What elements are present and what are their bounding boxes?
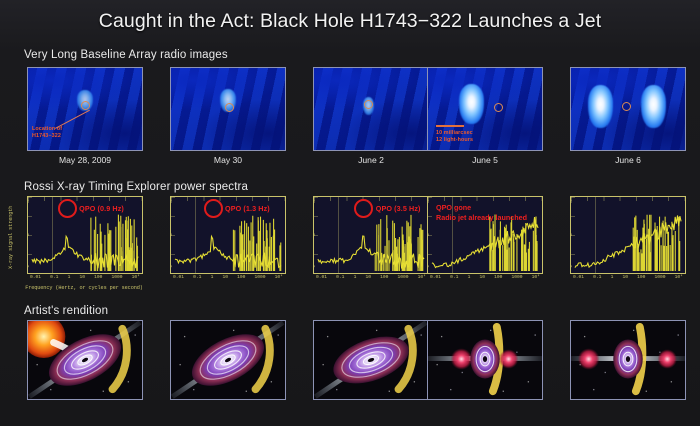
spectrum-x-tick: 0.1 bbox=[336, 275, 344, 280]
black-hole-illustration bbox=[428, 321, 542, 399]
spectrum-y-tick: 10⁻² bbox=[170, 201, 173, 206]
spectrum-y-tick: 10⁻⁴ bbox=[170, 266, 173, 271]
spectrum-trace bbox=[571, 197, 685, 273]
spectrum-y-ticks: 10⁻²10⁻³10⁻⁴ bbox=[427, 201, 430, 271]
spectrum-x-tick: 10 bbox=[479, 275, 485, 280]
qpo-annotation-line: QPO gone bbox=[436, 203, 527, 213]
artist-rendition-panel bbox=[427, 320, 543, 400]
radio-source-blob bbox=[588, 85, 613, 128]
qpo-annotation-line: QPO (1.3 Hz) bbox=[225, 204, 270, 213]
spectrum-x-tick: 1000 bbox=[655, 275, 666, 280]
black-hole-illustration bbox=[314, 321, 428, 399]
qpo-annotation-line: QPO (3.5 Hz) bbox=[376, 204, 421, 213]
spectrum-x-tick: 1 bbox=[611, 275, 614, 280]
spectrum-x-tick: 0.1 bbox=[50, 275, 58, 280]
spectrum-x-tick: 0.01 bbox=[173, 275, 184, 280]
spectrum-x-ticks: 0.010.1110100100010⁴ bbox=[313, 275, 429, 280]
spectrum-x-tick: 100 bbox=[637, 275, 645, 280]
spectrum-x-tick: 0.1 bbox=[193, 275, 201, 280]
qpo-annotation: QPO goneRadio jet already launched bbox=[436, 203, 527, 223]
spectrum-y-ticks: 10⁻²10⁻³10⁻⁴ bbox=[570, 201, 573, 271]
spectrum-y-tick: 10⁻³ bbox=[313, 234, 316, 239]
spectrum-x-tick: 0.1 bbox=[450, 275, 458, 280]
location-annotation: Location ofH1743−322 bbox=[32, 126, 62, 140]
qpo-annotation: QPO (0.9 Hz) bbox=[79, 204, 124, 213]
spectrum-x-tick: 100 bbox=[380, 275, 388, 280]
vlba-panel-caption: June 2 bbox=[313, 155, 429, 165]
spectrum-y-tick: 10⁻³ bbox=[27, 234, 30, 239]
spectrum-y-tick: 10⁻² bbox=[570, 201, 573, 206]
black-hole-location-marker bbox=[494, 103, 503, 112]
spectrum-y-tick: 10⁻⁴ bbox=[570, 266, 573, 271]
spectrum-y-ticks: 10⁻²10⁻³10⁻⁴ bbox=[170, 201, 173, 271]
spectrum-x-ticks: 0.010.1110100100010⁴ bbox=[427, 275, 543, 280]
page-title: Caught in the Act: Black Hole H1743−322 … bbox=[0, 10, 700, 33]
scale-bar-label-lighthours: 12 light-hours bbox=[436, 137, 473, 144]
black-hole-location-marker bbox=[364, 100, 373, 109]
figure-canvas: Caught in the Act: Black Hole H1743−322 … bbox=[0, 0, 700, 426]
power-spectrum-panel: QPO (1.3 Hz)10⁻²10⁻³10⁻⁴ bbox=[170, 196, 286, 274]
spectrum-y-tick: 10⁻³ bbox=[170, 234, 173, 239]
spectrum-x-tick: 10⁴ bbox=[132, 275, 140, 280]
vlba-panel bbox=[170, 67, 286, 151]
spectrum-x-tick: 10 bbox=[365, 275, 371, 280]
spectrum-y-tick: 10⁻⁴ bbox=[427, 266, 430, 271]
spectrum-x-tick: 0.1 bbox=[593, 275, 601, 280]
spectrum-x-tick: 1 bbox=[211, 275, 214, 280]
qpo-highlight-circle bbox=[58, 199, 77, 218]
artist-rendition-panel bbox=[170, 320, 286, 400]
spectrum-x-ticks: 0.010.1110100100010⁴ bbox=[170, 275, 286, 280]
power-spectrum-panel: 10⁻²10⁻³10⁻⁴ bbox=[570, 196, 686, 274]
qpo-annotation: QPO (1.3 Hz) bbox=[225, 204, 270, 213]
section-label-artist: Artist's rendition bbox=[24, 305, 108, 317]
spectrum-x-tick: 10 bbox=[222, 275, 228, 280]
spectrum-y-ticks: 10⁻²10⁻³10⁻⁴ bbox=[27, 201, 30, 271]
spectrum-x-tick: 10 bbox=[622, 275, 628, 280]
spectrum-y-tick: 10⁻² bbox=[427, 201, 430, 206]
spectrum-y-tick: 10⁻³ bbox=[427, 234, 430, 239]
power-spectrum-panel: QPO (3.5 Hz)10⁻²10⁻³10⁻⁴ bbox=[313, 196, 429, 274]
spectra-row: QPO (0.9 Hz)10⁻²10⁻³10⁻⁴0.010.1110100100… bbox=[0, 196, 700, 296]
vlba-panel-caption: May 28, 2009 bbox=[27, 155, 143, 165]
artist-rendition-panel bbox=[313, 320, 429, 400]
vlba-image-row: Location ofH1743−322May 28, 2009May 30Ju… bbox=[0, 67, 700, 167]
black-hole-illustration bbox=[571, 321, 685, 399]
spectrum-y-tick: 10⁻² bbox=[27, 201, 30, 206]
spectrum-x-tick: 10 bbox=[79, 275, 85, 280]
spectrum-x-tick: 1000 bbox=[398, 275, 409, 280]
spectra-y-axis-label: X-ray signal strength bbox=[8, 198, 14, 276]
spectrum-x-tick: 1000 bbox=[512, 275, 523, 280]
vlba-panel-caption: June 6 bbox=[570, 155, 686, 165]
radio-source-blob bbox=[641, 85, 666, 128]
spectrum-x-tick: 1 bbox=[354, 275, 357, 280]
power-spectrum-panel: QPO (0.9 Hz)10⁻²10⁻³10⁻⁴ bbox=[27, 196, 143, 274]
vlba-panel: 10 milliarcsec12 light-hours bbox=[427, 67, 543, 151]
spectrum-x-tick: 1000 bbox=[255, 275, 266, 280]
section-label-spectra: Rossi X-ray Timing Explorer power spectr… bbox=[24, 181, 248, 193]
spectrum-x-tick: 100 bbox=[237, 275, 245, 280]
spectrum-y-ticks: 10⁻²10⁻³10⁻⁴ bbox=[313, 201, 316, 271]
spectrum-y-tick: 10⁻⁴ bbox=[313, 266, 316, 271]
qpo-annotation-line: Radio jet already launched bbox=[436, 213, 527, 223]
spectrum-x-tick: 0.01 bbox=[430, 275, 441, 280]
vlba-panel bbox=[570, 67, 686, 151]
qpo-highlight-circle bbox=[204, 199, 223, 218]
location-annotation-line2: H1743−322 bbox=[32, 133, 62, 140]
spectrum-x-tick: 100 bbox=[494, 275, 502, 280]
spectrum-y-tick: 10⁻⁴ bbox=[27, 266, 30, 271]
qpo-annotation-line: QPO (0.9 Hz) bbox=[79, 204, 124, 213]
artist-rendition-row bbox=[0, 320, 700, 410]
spectrum-x-tick: 100 bbox=[94, 275, 102, 280]
artist-rendition-panel bbox=[27, 320, 143, 400]
spectrum-x-tick: 10⁴ bbox=[418, 275, 426, 280]
vlba-panel bbox=[313, 67, 429, 151]
spectrum-x-tick: 0.01 bbox=[573, 275, 584, 280]
vlba-panel-caption: June 5 bbox=[427, 155, 543, 165]
spectrum-x-tick: 0.01 bbox=[316, 275, 327, 280]
spectrum-x-tick: 1000 bbox=[112, 275, 123, 280]
spectrum-x-tick: 10⁴ bbox=[532, 275, 540, 280]
scale-bar-line bbox=[436, 125, 464, 127]
scale-bar-label-arcsec: 10 milliarcsec bbox=[436, 130, 473, 137]
radio-source-blob bbox=[459, 84, 484, 123]
black-hole-illustration bbox=[171, 321, 285, 399]
spectrum-x-ticks: 0.010.1110100100010⁴ bbox=[570, 275, 686, 280]
spectrum-x-tick: 0.01 bbox=[30, 275, 41, 280]
spectrum-x-tick: 10⁴ bbox=[675, 275, 683, 280]
black-hole-location-marker bbox=[225, 103, 234, 112]
spectrum-y-tick: 10⁻³ bbox=[570, 234, 573, 239]
artist-rendition-panel bbox=[570, 320, 686, 400]
section-label-vlba: Very Long Baseline Array radio images bbox=[24, 49, 228, 61]
vlba-panel-caption: May 30 bbox=[170, 155, 286, 165]
power-spectrum-panel: QPO goneRadio jet already launched10⁻²10… bbox=[427, 196, 543, 274]
spectrum-y-tick: 10⁻² bbox=[313, 201, 316, 206]
spectrum-x-tick: 10⁴ bbox=[275, 275, 283, 280]
qpo-annotation: QPO (3.5 Hz) bbox=[376, 204, 421, 213]
spectra-x-axis-label: Frequency (Hertz, or cycles per second) bbox=[24, 285, 144, 291]
spectrum-x-tick: 1 bbox=[68, 275, 71, 280]
spectrum-x-ticks: 0.010.1110100100010⁴ bbox=[27, 275, 143, 280]
vlba-panel: Location ofH1743−322 bbox=[27, 67, 143, 151]
black-hole-illustration bbox=[28, 321, 142, 399]
spectrum-x-tick: 1 bbox=[468, 275, 471, 280]
scale-bar-label: 10 milliarcsec12 light-hours bbox=[436, 130, 473, 144]
